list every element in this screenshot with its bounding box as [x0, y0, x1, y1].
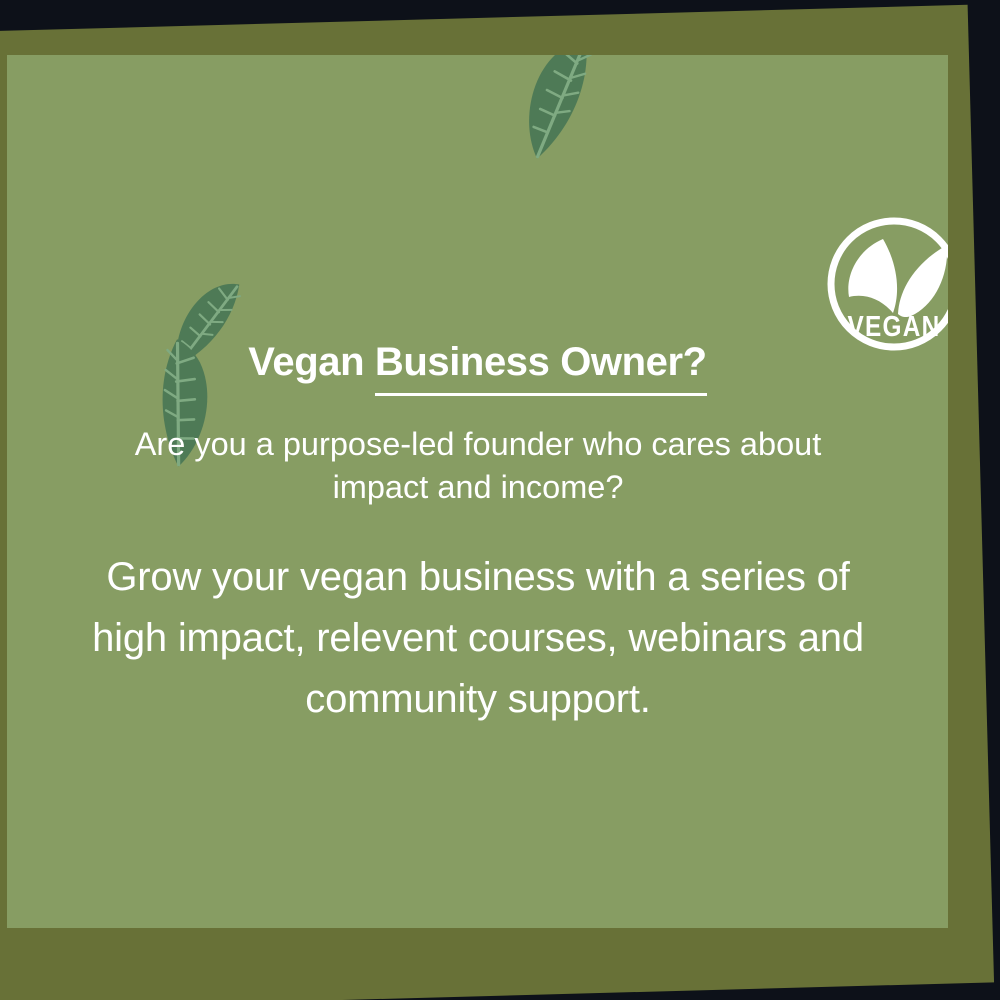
poster-canvas: VEGAN Vegan Business Owner? Are you a pu…: [0, 0, 1000, 1000]
subheading-text: Are you a purpose-led founder who cares …: [97, 423, 859, 509]
leaf-decoration-top: [503, 55, 605, 175]
vegan-badge-label: VEGAN: [848, 310, 941, 342]
body-copy-text: Grow your vegan business with a series o…: [67, 547, 889, 730]
page-title: Vegan Business Owner?: [7, 340, 948, 385]
headline-plain-part: Vegan: [248, 340, 375, 384]
vegan-seal-icon: VEGAN: [823, 213, 948, 357]
front-card-layer: VEGAN Vegan Business Owner? Are you a pu…: [7, 55, 948, 928]
headline-underlined-part: Business Owner?: [375, 340, 707, 396]
